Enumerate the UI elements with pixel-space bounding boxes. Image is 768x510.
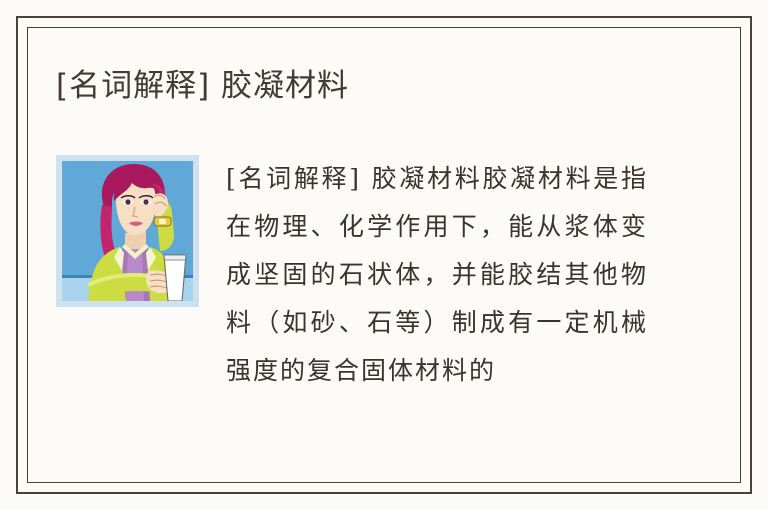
illustration-canvas bbox=[62, 161, 193, 301]
article-illustration bbox=[56, 155, 199, 307]
woman-with-cup-icon bbox=[62, 161, 193, 301]
page-title: [名词解释] 胶凝材料 bbox=[56, 66, 349, 106]
article-body-text: [名词解释] 胶凝材料胶凝材料是指在物理、化学作用下，能从浆体变成坚固的石状体，… bbox=[226, 155, 648, 395]
document-page: [名词解释] 胶凝材料 bbox=[0, 0, 768, 510]
article-content: [名词解释] 胶凝材料胶凝材料是指在物理、化学作用下，能从浆体变成坚固的石状体，… bbox=[56, 155, 712, 395]
